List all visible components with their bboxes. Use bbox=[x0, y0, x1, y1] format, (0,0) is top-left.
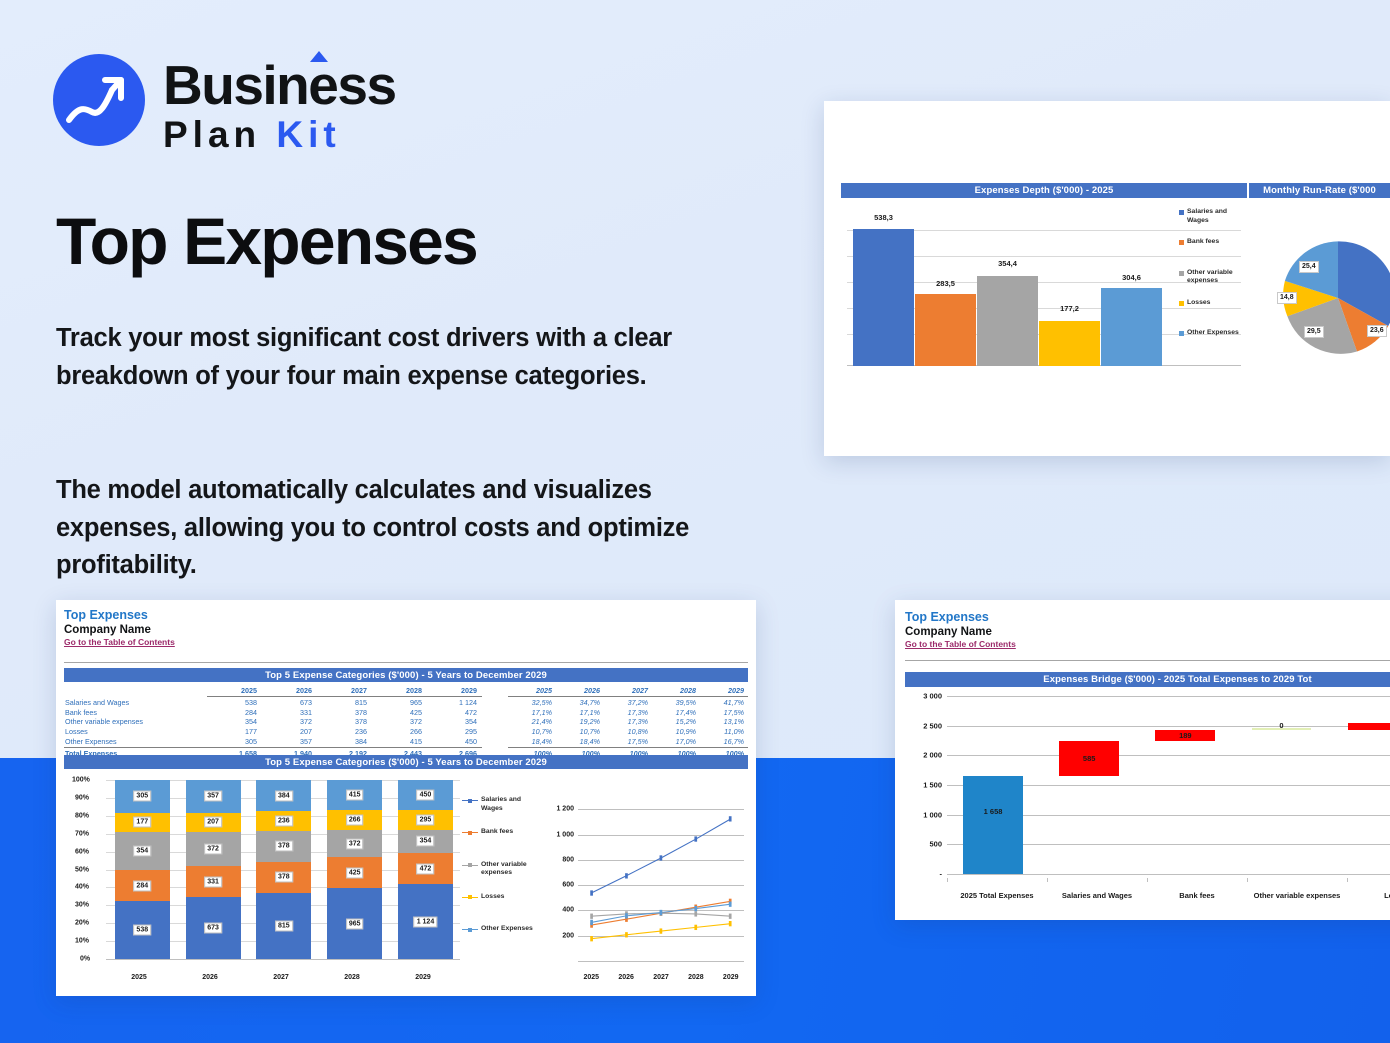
chart-title-top5-stacked: Top 5 Expense Categories ($'000) - 5 Yea… bbox=[64, 755, 748, 769]
bar-salaries: 538,3 bbox=[853, 224, 914, 366]
legend-item: Losses bbox=[1179, 299, 1243, 308]
bar-other-expenses: 304,6 bbox=[1101, 224, 1162, 366]
table-row: Bank fees 284 331 378 425 472 17,1% 17,1… bbox=[64, 707, 748, 717]
waterfall-chart-expenses-bridge: 3 000 2 500 2 000 1 500 1 000 500 - 1 65… bbox=[905, 692, 1390, 904]
legend-item: Salaries and Wages bbox=[1179, 208, 1243, 225]
legend-item: Losses bbox=[462, 893, 542, 902]
table-top5-expense-categories: 2025 2026 2027 2028 2029 2025 2026 2027 … bbox=[64, 686, 748, 758]
stacked-column-2027: 384 236 378 378 815 bbox=[256, 780, 311, 959]
sheet-title: Top Expenses bbox=[64, 608, 175, 623]
divider bbox=[64, 662, 748, 663]
legend-item: Salaries and Wages bbox=[462, 796, 542, 813]
chart-title-monthly-run-rate: Monthly Run-Rate ($'000 bbox=[1249, 183, 1390, 198]
brand-word-plan: Plan bbox=[163, 114, 261, 155]
table-row: Other Expenses 305 357 384 415 450 18,4%… bbox=[64, 737, 748, 748]
legend-line-icon bbox=[462, 926, 478, 933]
brand-name-line1: Business bbox=[163, 56, 396, 114]
brand-word-kit: Kit bbox=[276, 114, 340, 155]
pie-label-losses: 14,8 bbox=[1277, 292, 1297, 304]
table-title-top5-expense-categories: Top 5 Expense Categories ($'000) - 5 Yea… bbox=[64, 668, 748, 682]
circumflex-accent-icon bbox=[310, 51, 328, 62]
waterfall-bar-bank-fees: 189 bbox=[1155, 730, 1215, 741]
screenshot-panel-expenses-depth[interactable]: Expenses Depth ($'000) - 2025 Monthly Ru… bbox=[824, 101, 1390, 456]
legend-line-icon bbox=[462, 797, 478, 804]
stacked-column-2029: 450 295 354 472 1 124 bbox=[398, 780, 453, 959]
legend-swatch-icon bbox=[1179, 271, 1184, 276]
waterfall-bar-losses: 1 bbox=[1348, 723, 1390, 730]
bar-bank-fees: 283,5 bbox=[915, 224, 976, 366]
legend-line-icon bbox=[462, 894, 478, 901]
table-of-contents-link[interactable]: Go to the Table of Contents bbox=[64, 637, 175, 648]
waterfall-bar-2025-total: 1 658 bbox=[963, 776, 1023, 874]
legend-item: Other variable expenses bbox=[1179, 269, 1243, 286]
legend-item: Other variable expenses bbox=[462, 861, 542, 878]
brand-name-line2: Plan Kit bbox=[163, 114, 396, 156]
pie-label-other-expenses: 25,4 bbox=[1299, 261, 1319, 273]
screenshot-panel-expenses-bridge[interactable]: Top Expenses Company Name Go to the Tabl… bbox=[895, 600, 1390, 920]
legend-line-chart: Salaries and Wages Bank fees Other varia… bbox=[462, 796, 542, 949]
hero-paragraph-2: The model automatically calculates and v… bbox=[56, 472, 736, 585]
legend-swatch-icon bbox=[1179, 240, 1184, 245]
stacked-bar-chart-top5: 100% 90% 80% 70% 60% 50% 40% 30% 20% 10%… bbox=[64, 774, 464, 989]
sheet-title: Top Expenses bbox=[905, 610, 1016, 625]
bar-losses: 177,2 bbox=[1039, 224, 1100, 366]
table-header-row: 2025 2026 2027 2028 2029 2025 2026 2027 … bbox=[64, 686, 748, 697]
legend-item: Bank fees bbox=[1179, 238, 1243, 247]
legend-line-icon bbox=[462, 862, 478, 869]
legend-swatch-icon bbox=[1179, 301, 1184, 306]
legend-swatch-icon bbox=[1179, 210, 1184, 215]
table-row: Losses 177 207 236 266 295 10,7% 10,7% 1… bbox=[64, 727, 748, 737]
stacked-column-2025: 305 177 354 284 538 bbox=[115, 780, 170, 959]
table-of-contents-link[interactable]: Go to the Table of Contents bbox=[905, 639, 1016, 650]
brand-word-business: Business bbox=[163, 54, 396, 116]
pie-chart-monthly-run-rate: 25,4 14,8 29,5 23,6 bbox=[1279, 239, 1390, 357]
legend-item: Bank fees bbox=[462, 828, 542, 837]
table-row: Other variable expenses 354 372 378 372 … bbox=[64, 717, 748, 727]
line-chart-top5-trend: Salaries and Wages Bank fees Other varia… bbox=[460, 774, 750, 989]
chart-title-expenses-depth: Expenses Depth ($'000) - 2025 bbox=[841, 183, 1247, 198]
screenshot-panel-top5-expense-categories[interactable]: Top Expenses Company Name Go to the Tabl… bbox=[56, 600, 756, 996]
page-title: Top Expenses bbox=[56, 205, 477, 277]
sheet-header: Top Expenses Company Name Go to the Tabl… bbox=[905, 610, 1016, 650]
bar-chart-expenses-depth: 538,3 283,5 354,4 177,2 304,6 Salaries a… bbox=[841, 204, 1247, 382]
legend-item: Other Expenses bbox=[462, 925, 542, 934]
brand-logo: Business Plan Kit bbox=[53, 54, 473, 159]
growth-arrow-icon bbox=[53, 54, 145, 146]
legend-item: Other Expenses bbox=[1179, 329, 1243, 338]
legend-swatch-icon bbox=[1179, 331, 1184, 336]
stacked-column-2028: 415 266 372 425 965 bbox=[327, 780, 382, 959]
pie-label-other-variable: 29,5 bbox=[1304, 326, 1324, 338]
stacked-column-2026: 357 207 372 331 673 bbox=[186, 780, 241, 959]
legend-expenses-depth: Salaries and Wages Bank fees Other varia… bbox=[1179, 208, 1243, 351]
pie-label-bank-fees: 23,6 bbox=[1367, 325, 1387, 337]
divider bbox=[905, 660, 1390, 661]
waterfall-bar-salaries: 585 bbox=[1059, 741, 1119, 776]
sheet-company-name: Company Name bbox=[905, 625, 1016, 639]
table-row: Salaries and Wages 538 673 815 965 1 124… bbox=[64, 697, 748, 707]
legend-line-icon bbox=[462, 829, 478, 836]
sheet-header: Top Expenses Company Name Go to the Tabl… bbox=[64, 608, 175, 648]
chart-title-expenses-bridge: Expenses Bridge ($'000) - 2025 Total Exp… bbox=[905, 672, 1390, 687]
sheet-company-name: Company Name bbox=[64, 623, 175, 637]
bar-other-variable: 354,4 bbox=[977, 224, 1038, 366]
hero-paragraph-1: Track your most significant cost drivers… bbox=[56, 320, 736, 395]
